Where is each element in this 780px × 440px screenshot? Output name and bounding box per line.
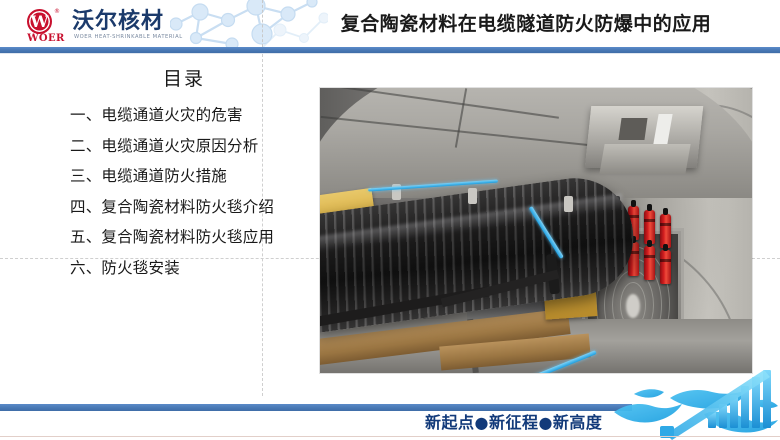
tunnel-photo — [320, 88, 752, 373]
toc-heading: 目录 — [84, 64, 284, 94]
photo-bolt — [468, 188, 477, 204]
fire-extinguisher-icon — [660, 250, 671, 284]
list-item[interactable]: 三、电缆通道防火措施 — [60, 161, 322, 192]
footer-bar-gap — [0, 401, 632, 403]
logo-latin-name: WOER — [24, 33, 68, 44]
header-divider — [262, 0, 263, 47]
list-item[interactable]: 一、电缆通道火灾的危害 — [60, 100, 322, 131]
fire-extinguisher-icon — [644, 210, 655, 244]
list-item[interactable]: 六、防火毯安装 — [60, 253, 322, 284]
list-item[interactable]: 二、电缆通道火灾原因分析 — [60, 131, 322, 162]
slide-canvas: W ® WOER 沃尔核材 WOER HEAT-SHRINKABLE MATER… — [0, 0, 780, 440]
logo-tagline: WOER HEAT-SHRINKABLE MATERIAL — [74, 34, 183, 40]
page-title: 复合陶瓷材料在电缆隧道防火防爆中的应用 — [286, 8, 766, 40]
world-map-growth-chart-icon — [612, 368, 780, 440]
footer-accent-bar — [0, 404, 632, 411]
logo-chinese-name: 沃尔核材 — [72, 10, 164, 34]
logo-mark: W ® WOER — [24, 9, 68, 42]
toc-list: 一、电缆通道火灾的危害 二、电缆通道火灾原因分析 三、电缆通道防火措施 四、复合… — [60, 100, 322, 283]
table-of-contents: 目录 一、电缆通道火灾的危害 二、电缆通道火灾原因分析 三、电缆通道防火措施 四… — [60, 64, 322, 283]
registered-mark: ® — [54, 8, 60, 15]
photo-bracket-shadow — [618, 118, 647, 140]
list-item[interactable]: 四、复合陶瓷材料防火毯介绍 — [60, 192, 322, 223]
fire-extinguisher-icon — [660, 214, 671, 248]
logo-letter: W — [27, 9, 52, 34]
company-logo: W ® WOER 沃尔核材 WOER HEAT-SHRINKABLE MATER… — [24, 9, 184, 42]
photo-bolt — [564, 196, 573, 212]
fire-extinguisher-icon — [644, 246, 655, 280]
photo-ceiling-bracket-lower — [599, 144, 690, 174]
slide-header: W ® WOER 沃尔核材 WOER HEAT-SHRINKABLE MATER… — [0, 0, 780, 47]
header-hairline — [0, 53, 780, 54]
photo-tunnel-light — [626, 294, 640, 318]
footer-hairline — [0, 436, 780, 437]
list-item[interactable]: 五、复合陶瓷材料防火毯应用 — [60, 222, 322, 253]
